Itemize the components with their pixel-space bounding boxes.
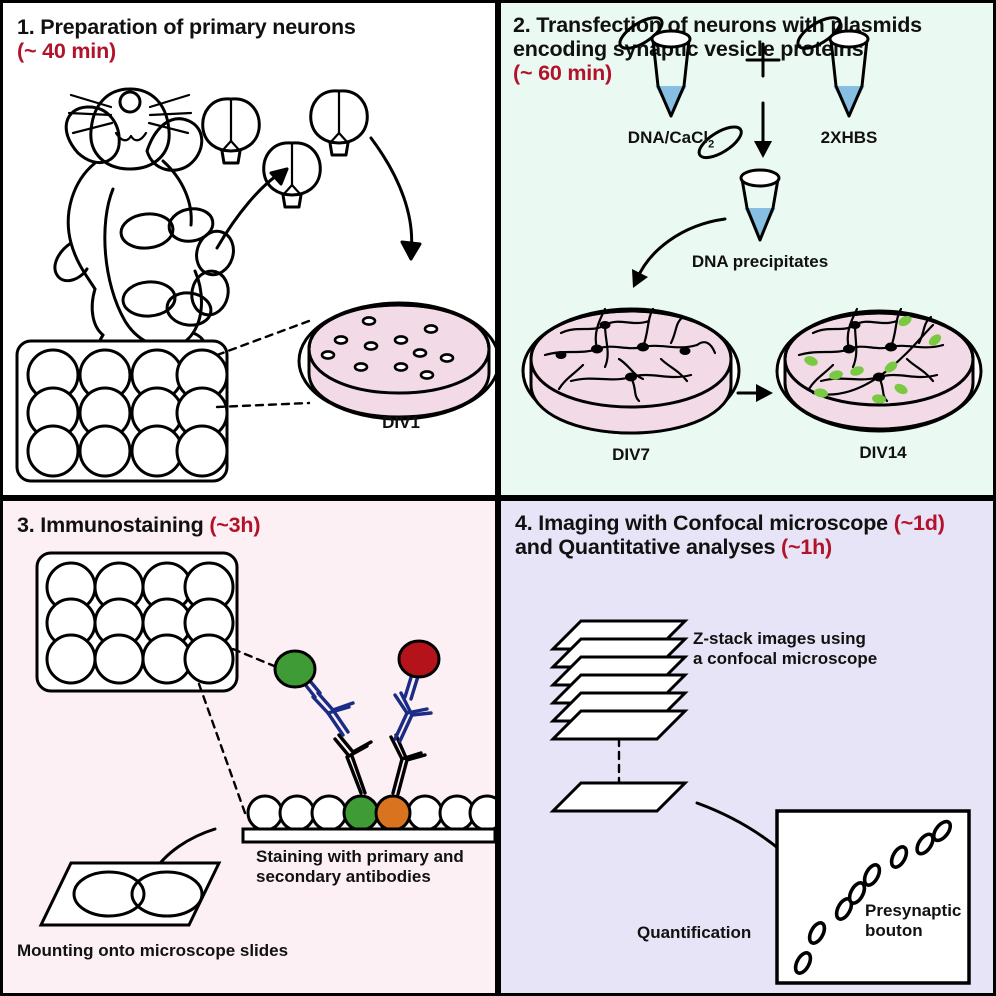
antigen-orange (376, 796, 410, 830)
mouse-embryos (119, 205, 239, 327)
quantification-image-box (777, 811, 969, 983)
culture-plate-12-well (37, 553, 237, 691)
label-zstack: Z-stack images using a confocal microsco… (693, 629, 877, 670)
label-staining: Staining with primary and secondary anti… (256, 847, 464, 888)
arrow-div7-to-div14 (738, 384, 773, 402)
zoom-line-to-membrane (199, 684, 245, 813)
panel-imaging-and-quantification: 4. Imaging with Confocal microscope (~1d… (498, 498, 996, 996)
culture-plate-12-well (17, 341, 227, 481)
label-presynaptic-bouton: Presynaptic bouton (865, 901, 961, 942)
label-quantification: Quantification (637, 923, 751, 943)
workflow-figure: 1. Preparation of primary neurons (~ 40 … (0, 0, 996, 996)
fluorophore-green (275, 651, 315, 687)
arrow-to-dish (371, 138, 420, 259)
embryonic-brains (203, 91, 368, 207)
fluorophore-red (399, 641, 439, 677)
panel-immunostaining: 3. Immunostaining (~3h) (0, 498, 498, 996)
plus-sign (747, 44, 779, 76)
tube-2xhbs (793, 12, 868, 116)
panel-preparation-of-primary-neurons: 1. Preparation of primary neurons (~ 40 … (0, 0, 498, 498)
label-mounting: Mounting onto microscope slides (17, 941, 288, 961)
primary-antibody-orange (391, 735, 425, 794)
culture-dish-div7 (523, 309, 739, 433)
secondary-antibody-red (395, 671, 431, 741)
culture-dish-div1 (299, 303, 498, 419)
dish-label-div14: DIV14 (859, 443, 906, 463)
tube-label-2xhbs: 2XHBS (821, 128, 878, 148)
dish-label-div7: DIV7 (612, 445, 650, 465)
microscope-slide (41, 863, 219, 925)
dish-label-div1: DIV1 (382, 413, 420, 433)
antigen-green (344, 796, 378, 830)
z-stack-plane-single (553, 783, 685, 811)
culture-dish-div14 (777, 309, 981, 431)
tube-label-dna-cacl2: DNA/CaCl2 (628, 128, 714, 152)
primary-antibody-green (335, 735, 371, 793)
panel2-illustration (501, 3, 996, 498)
arrow-mix-down (754, 103, 772, 158)
zoom-line-bottom (217, 403, 309, 407)
panel1-illustration (3, 3, 498, 498)
cell-membrane (243, 796, 498, 842)
tube-dna-cacl2 (615, 12, 690, 116)
zoom-line-top (217, 321, 309, 355)
panel-transfection-of-neurons: 2. Transfection of neurons with plasmids… (498, 0, 996, 498)
z-stack-planes (553, 621, 685, 811)
label-dna-precipitates: DNA precipitates (692, 252, 828, 272)
panel3-illustration (3, 501, 498, 996)
